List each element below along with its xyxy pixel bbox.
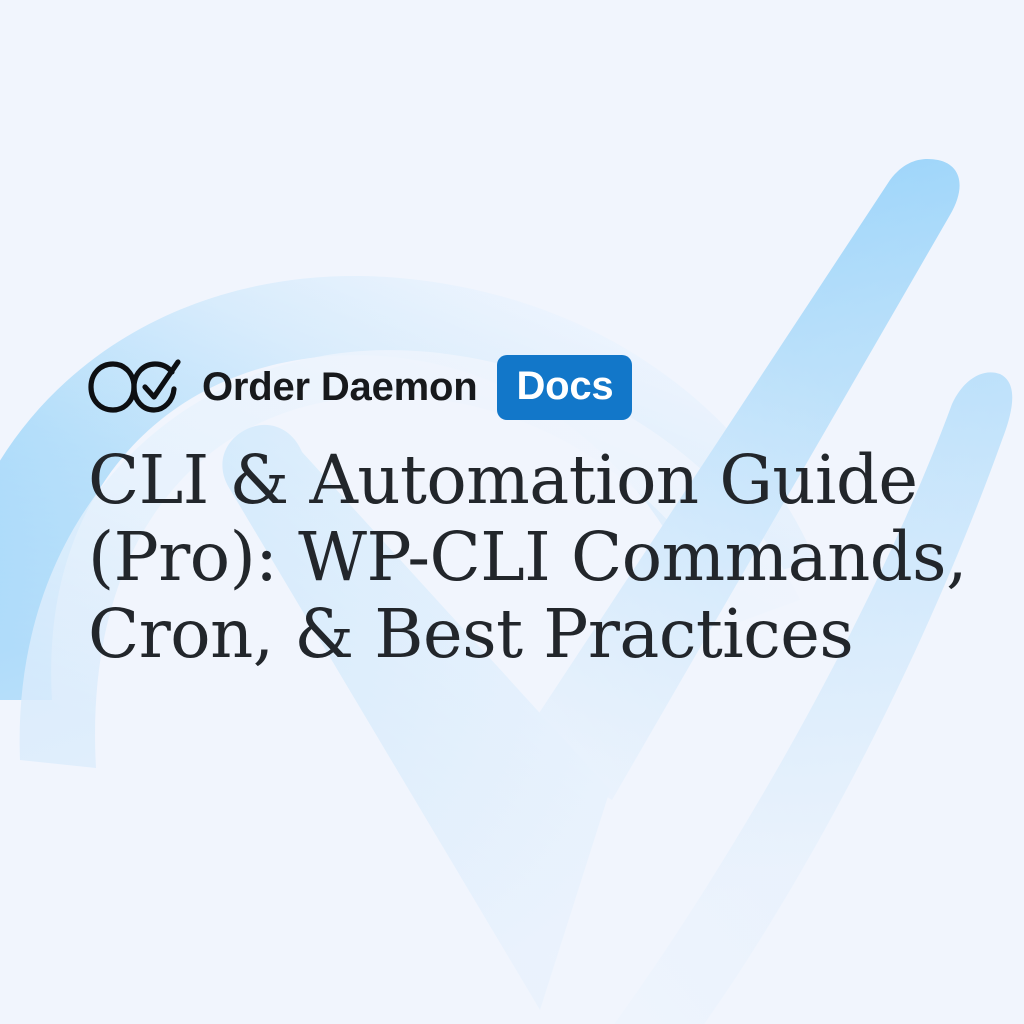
logo-right-loop xyxy=(134,364,174,410)
page-title-line-3: Cron, & Best Practices xyxy=(88,596,888,673)
page-title-line-2: (Pro): WP-CLI Commands, xyxy=(88,519,888,596)
page-title: CLI & Automation Guide (Pro): WP-CLI Com… xyxy=(88,442,888,673)
docs-hero-card: Order Daemon Docs CLI & Automation Guide… xyxy=(0,0,1024,1024)
brand-row: Order Daemon Docs xyxy=(88,356,948,418)
brand-name: Order Daemon xyxy=(202,367,477,407)
logo-left-loop xyxy=(91,364,134,410)
docs-badge[interactable]: Docs xyxy=(497,355,632,420)
infinity-check-logo-icon xyxy=(88,359,184,415)
hero-content: Order Daemon Docs CLI & Automation Guide… xyxy=(88,356,948,718)
page-title-line-1: CLI & Automation Guide xyxy=(88,442,888,519)
